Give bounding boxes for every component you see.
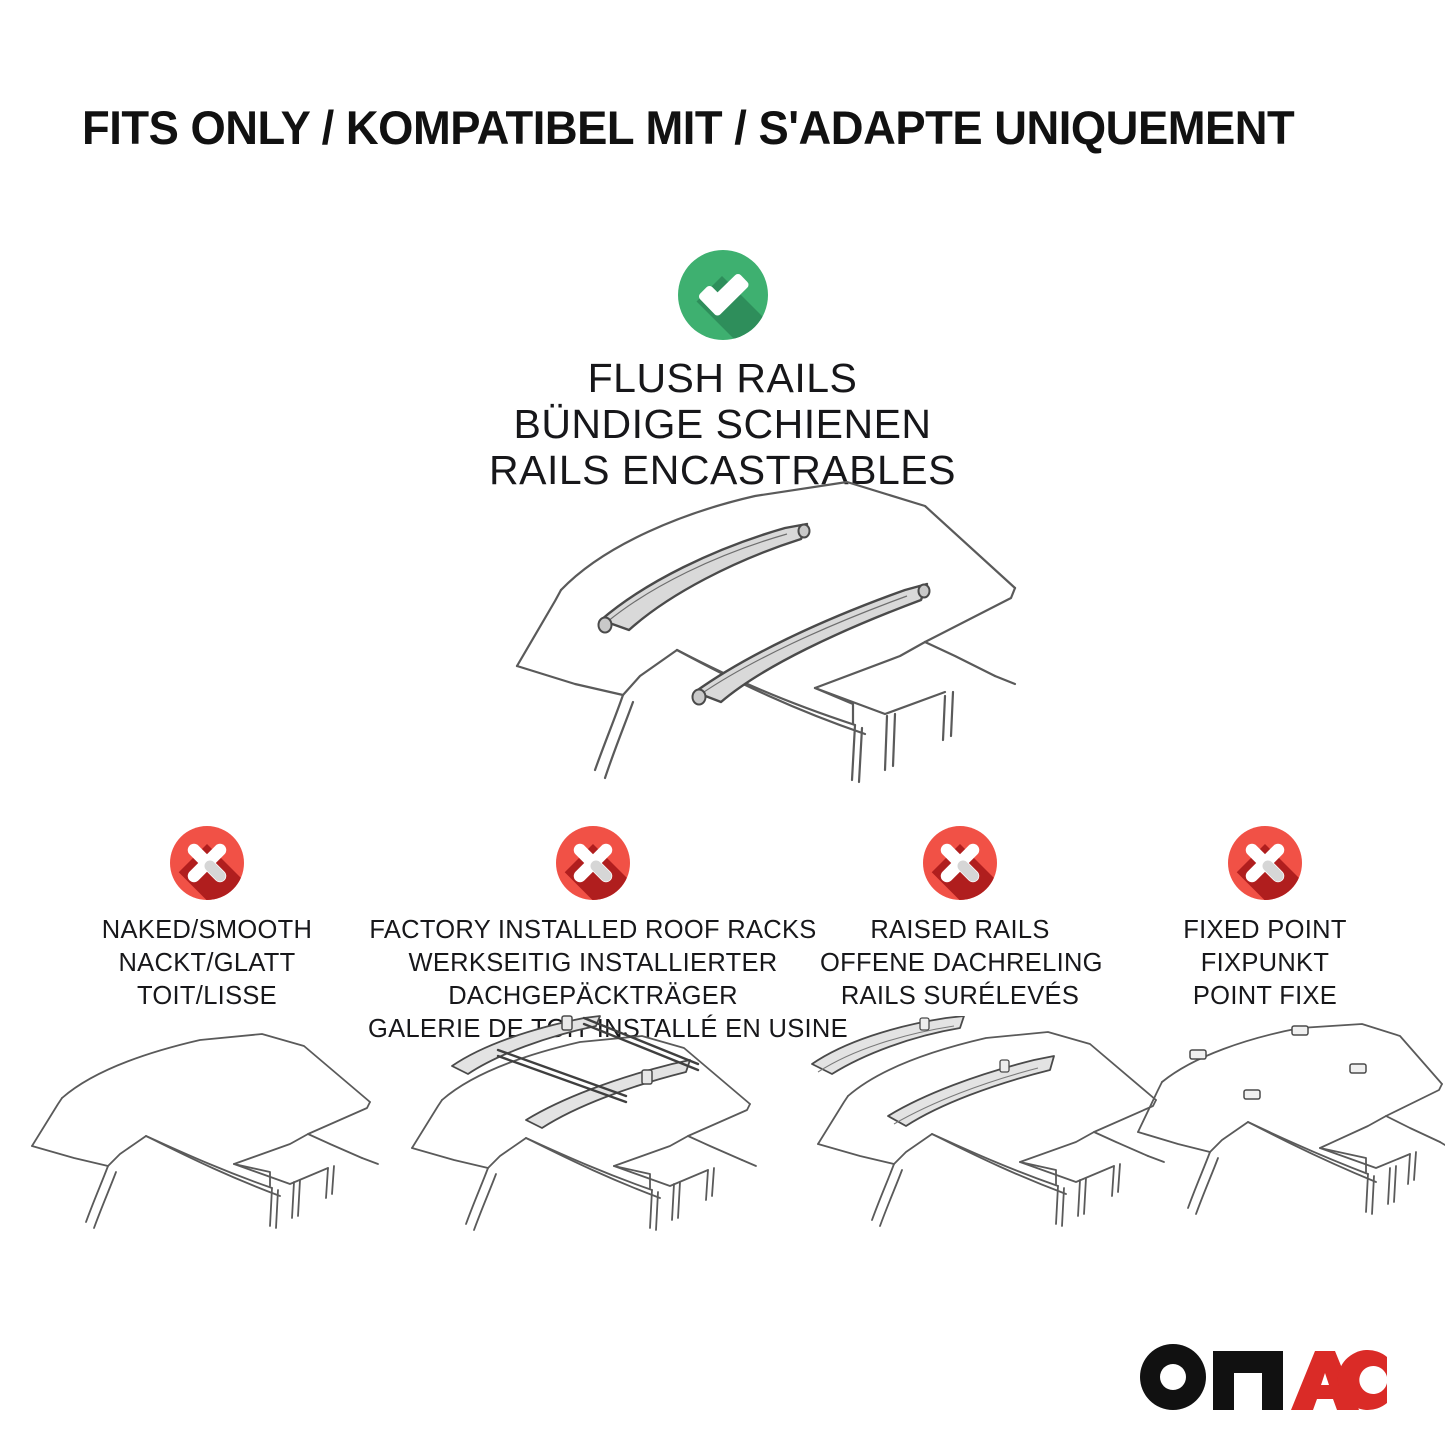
compatibility-infographic: FITS ONLY / KOMPATIBEL MIT / S'ADAPTE UN… [0,0,1445,1445]
incompatible-label-en: FIXED POINT [1125,914,1405,947]
car-roof-with-raised-rails-illustration [808,1016,1168,1246]
car-roof-with-factory-crossbars-illustration [398,1006,758,1236]
incompatible-label-fr: RAILS SURÉLEVÉS [820,980,1100,1013]
incompatible-label-en: RAISED RAILS [820,914,1100,947]
check-circle-icon [678,250,768,340]
incompatible-label-fr: TOIT/LISSE [47,980,367,1013]
incompatible-option-raised-rails: RAISED RAILS OFFENE DACHRELING RAILS SUR… [820,826,1100,1013]
compatible-block: FLUSH RAILS BÜNDIGE SCHIENEN RAILS ENCAS… [0,250,1445,494]
incompatible-option-fixed-point: FIXED POINT FIXPUNKT POINT FIXE [1125,826,1405,1013]
incompatible-labels: NAKED/SMOOTH NACKT/GLATT TOIT/LISSE [47,914,367,1013]
incompatible-option-naked-smooth: NAKED/SMOOTH NACKT/GLATT TOIT/LISSE [47,826,367,1013]
car-roof-with-flush-rails-illustration [455,470,1025,790]
page-title: FITS ONLY / KOMPATIBEL MIT / S'ADAPTE UN… [82,104,1327,151]
incompatible-row: NAKED/SMOOTH NACKT/GLATT TOIT/LISSE FACT… [0,826,1445,1026]
x-circle-icon [170,826,244,900]
x-circle-icon [1228,826,1302,900]
compatible-label-de: BÜNDIGE SCHIENEN [0,402,1445,448]
incompatible-label-de-1: WERKSEITIG INSTALLIERTER [368,947,818,980]
incompatible-labels: FIXED POINT FIXPUNKT POINT FIXE [1125,914,1405,1013]
compatible-label-en: FLUSH RAILS [0,356,1445,402]
x-circle-icon [556,826,630,900]
incompatible-label-de: OFFENE DACHRELING [820,947,1100,980]
logo-letter-m [1213,1351,1283,1410]
flush-rail-lower [693,584,930,705]
incompatible-label-de: FIXPUNKT [1125,947,1405,980]
logo-letter-o [1140,1344,1206,1410]
x-circle-icon [923,826,997,900]
car-roof-fixed-point-illustration [1132,1022,1445,1252]
incompatible-labels: RAISED RAILS OFFENE DACHRELING RAILS SUR… [820,914,1100,1013]
omac-logo [1137,1337,1387,1417]
incompatible-label-de: NACKT/GLATT [47,947,367,980]
incompatible-label-en: FACTORY INSTALLED ROOF RACKS [368,914,818,947]
car-roof-naked-illustration [22,1030,382,1260]
incompatible-label-fr: POINT FIXE [1125,980,1405,1013]
incompatible-label-en: NAKED/SMOOTH [47,914,367,947]
